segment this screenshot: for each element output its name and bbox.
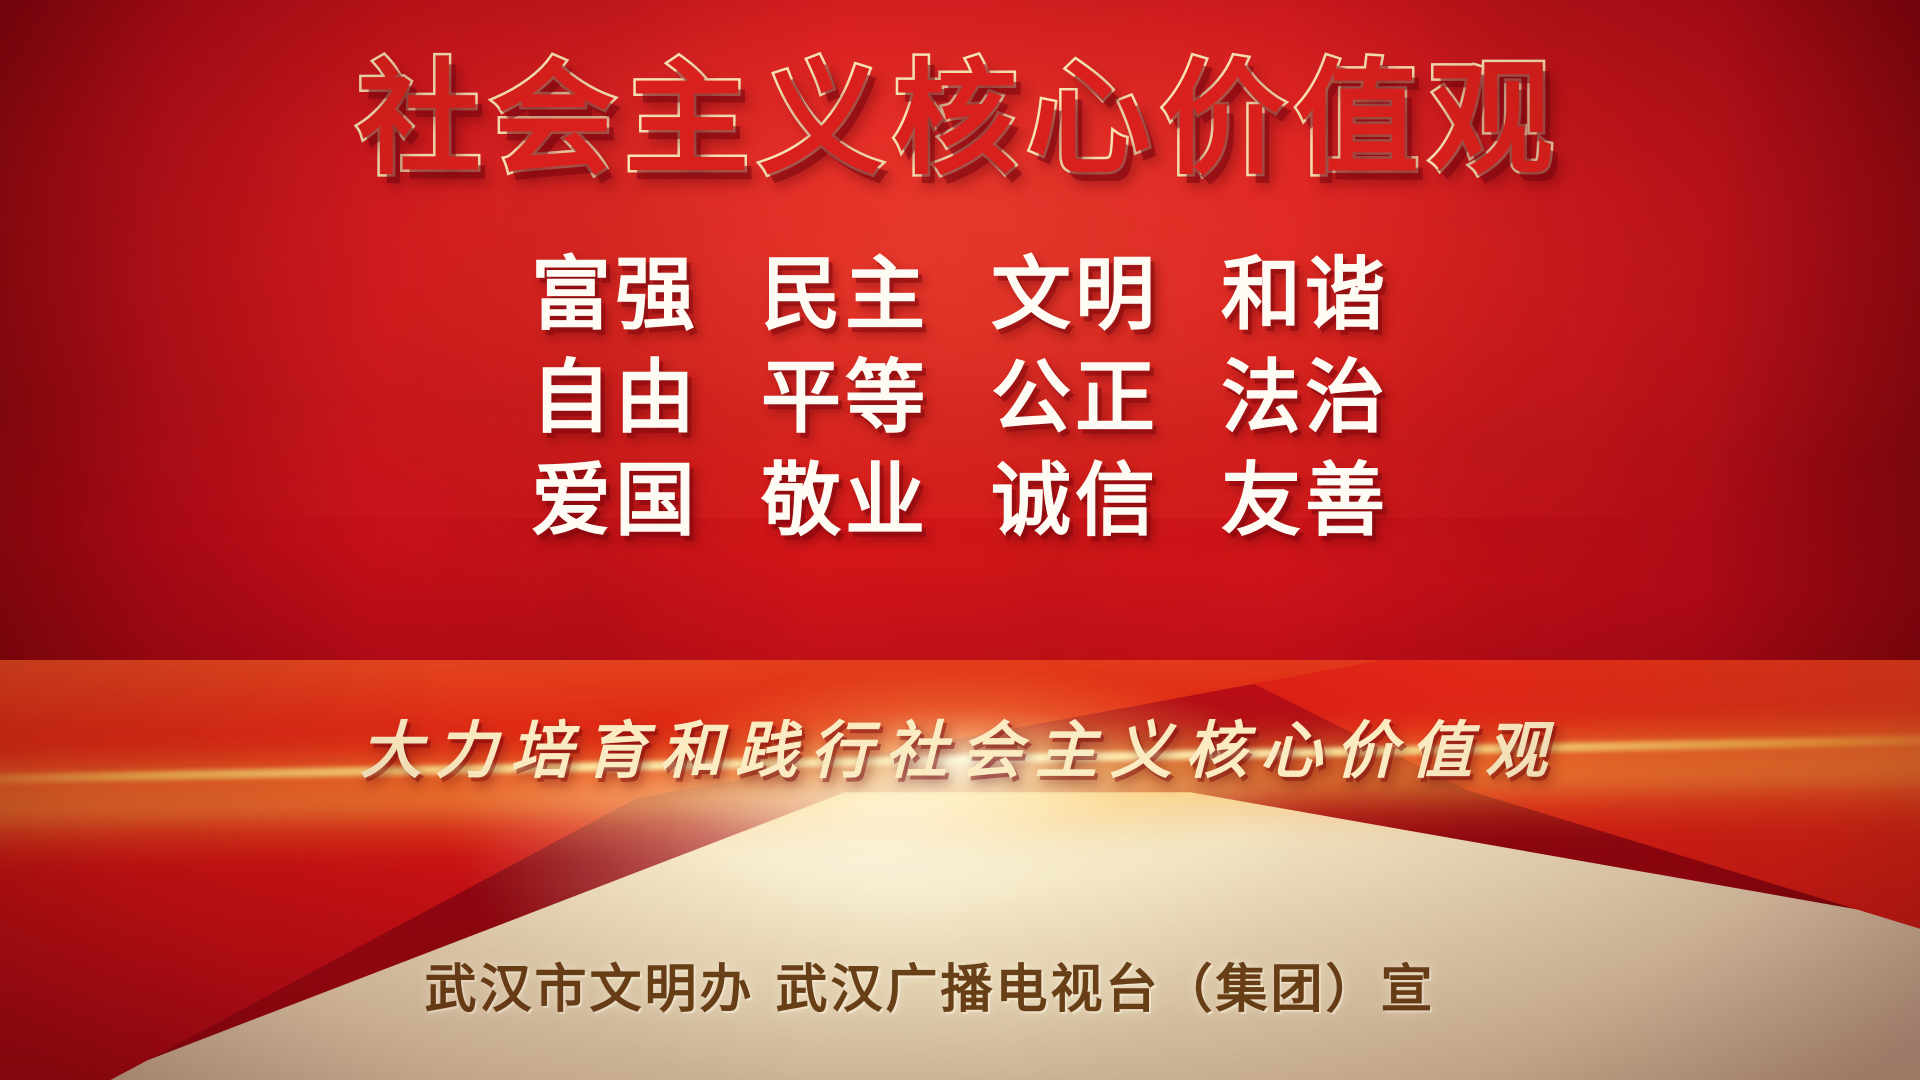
value-word: 和谐 <box>1219 248 1391 341</box>
slogan-text: 大力培育和践行社会主义核心价值观 <box>0 700 1920 790</box>
value-word: 爱国 <box>529 454 701 547</box>
core-values-grid: 富强 民主 文明 和谐 自由 平等 公正 法治 爱国 敬业 诚信 友善 <box>0 248 1920 546</box>
value-word: 平等 <box>759 351 931 444</box>
value-word: 民主 <box>759 248 931 341</box>
value-word: 法治 <box>1219 351 1391 444</box>
core-values-row: 自由 平等 公正 法治 <box>529 351 1391 444</box>
value-word: 自由 <box>529 351 701 444</box>
credits-text: 武汉市文明办 武汉广播电视台（集团）宣 <box>0 947 1920 1022</box>
value-word: 文明 <box>989 248 1161 341</box>
core-values-row: 富强 民主 文明 和谐 <box>529 248 1391 341</box>
page-title: 社会主义核心价值观 <box>0 52 1920 188</box>
value-word: 诚信 <box>989 454 1161 547</box>
core-values-row: 爱国 敬业 诚信 友善 <box>529 454 1391 547</box>
value-word: 敬业 <box>759 454 931 547</box>
value-word: 友善 <box>1219 454 1391 547</box>
poster-canvas: 社会主义核心价值观 富强 民主 文明 和谐 自由 平等 公正 法治 爱国 敬业 … <box>0 0 1920 1080</box>
value-word: 公正 <box>989 351 1161 444</box>
value-word: 富强 <box>529 248 701 341</box>
